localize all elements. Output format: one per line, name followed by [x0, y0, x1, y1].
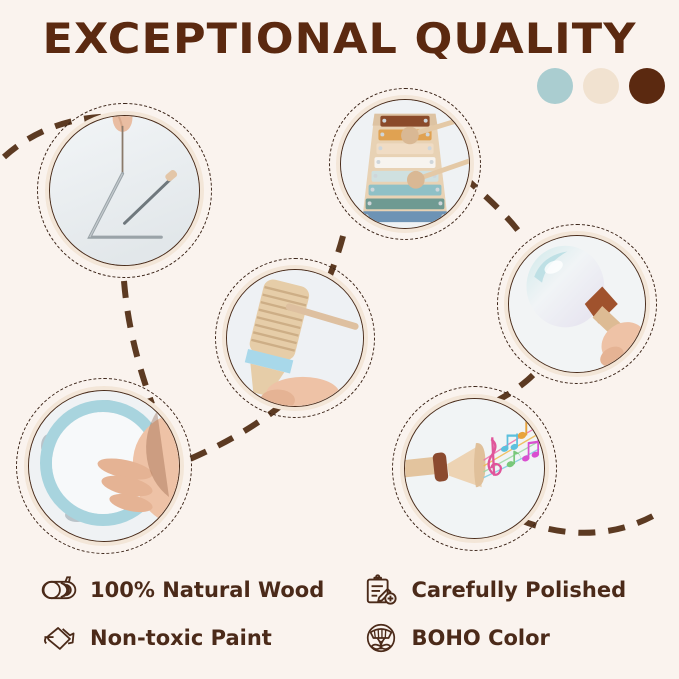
tambourine-photo	[29, 391, 179, 541]
tambourine-photo-frame	[28, 390, 180, 542]
swatch-boho-blue	[537, 68, 573, 104]
xylophone-photo-frame	[340, 99, 470, 229]
feature-non-toxic-paint-label: Non-toxic Paint	[90, 626, 272, 650]
whistle-photo	[405, 399, 544, 538]
photo-whistle[interactable]	[392, 386, 557, 551]
feature-carefully-polished-label: Carefully Polished	[412, 578, 627, 602]
maraca-photo	[509, 236, 645, 372]
feature-carefully-polished: Carefully Polished	[360, 570, 679, 610]
photo-maraca[interactable]	[497, 224, 657, 384]
photo-tambourine[interactable]	[16, 378, 192, 554]
xylophone-photo	[341, 100, 469, 228]
whistle-photo-frame	[404, 398, 545, 539]
clipboard-check-icon	[360, 571, 402, 609]
feature-column-left: 100% Natural Wood Non-toxic Paint	[0, 570, 340, 670]
paint-bucket-icon	[38, 619, 80, 657]
page-title: EXCEPTIONAL QUALITY	[0, 14, 679, 63]
feature-list: 100% Natural Wood Non-toxic Paint	[0, 570, 679, 670]
color-swatch-group	[537, 68, 665, 104]
triangle-photo-frame	[49, 115, 200, 266]
photo-xylophone[interactable]	[329, 88, 481, 240]
feature-boho-color: BOHO Color	[360, 618, 679, 658]
photo-triangle[interactable]	[37, 103, 212, 278]
swatch-boho-cream	[583, 68, 619, 104]
guiro-photo	[227, 270, 363, 406]
infographic-page: EXCEPTIONAL QUALITY	[0, 0, 679, 679]
swatch-boho-brown	[629, 68, 665, 104]
feature-non-toxic-paint: Non-toxic Paint	[38, 618, 340, 658]
triangle-photo	[50, 116, 199, 265]
maraca-photo-frame	[508, 235, 646, 373]
boho-badge-icon	[360, 619, 402, 657]
feature-natural-wood-label: 100% Natural Wood	[90, 578, 324, 602]
feature-boho-color-label: BOHO Color	[412, 626, 550, 650]
guiro-photo-frame	[226, 269, 364, 407]
wood-log-icon	[38, 571, 80, 609]
feature-column-right: Carefully Polished	[340, 570, 679, 670]
feature-natural-wood: 100% Natural Wood	[38, 570, 340, 610]
photo-guiro[interactable]	[215, 258, 375, 418]
